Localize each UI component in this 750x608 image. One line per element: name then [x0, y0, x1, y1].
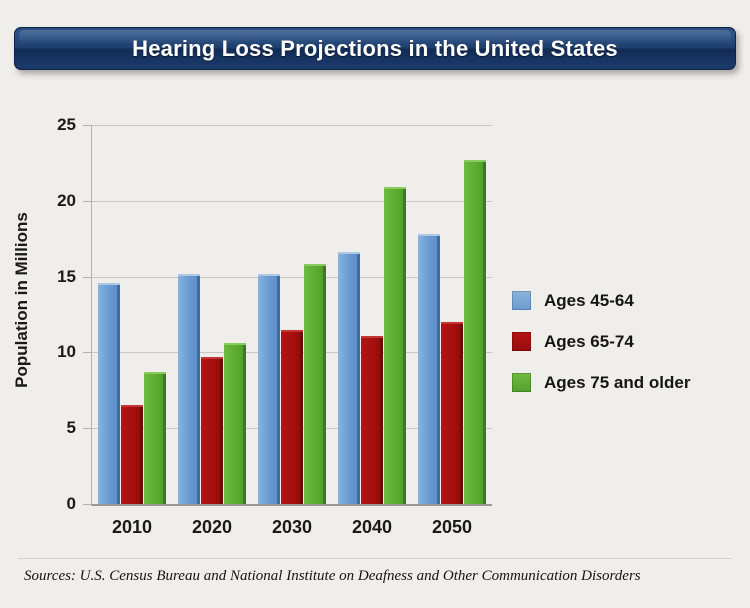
bar-group	[332, 125, 412, 504]
source-note: Sources: U.S. Census Bureau and National…	[24, 568, 734, 585]
bar	[418, 234, 440, 504]
y-axis-tick-label: 10	[57, 342, 76, 362]
bar-face	[304, 264, 323, 504]
bar-face	[338, 252, 357, 504]
bar	[338, 252, 360, 504]
legend-item: Ages 45-64	[512, 280, 742, 321]
chart-canvas: Population in Millions 0510152025 201020…	[0, 82, 750, 552]
bar-cap	[338, 252, 360, 254]
bar-side	[483, 160, 486, 504]
bar-side	[243, 343, 246, 504]
legend-item-label: Ages 65-74	[544, 332, 634, 352]
bar	[201, 357, 223, 504]
y-axis-tick	[83, 352, 92, 353]
bar	[121, 405, 143, 504]
bar-group	[412, 125, 492, 504]
bar-side	[163, 372, 166, 504]
bar-side	[323, 264, 326, 504]
y-axis-tick-label: 15	[57, 267, 76, 287]
bar-cap	[144, 372, 166, 374]
bar-face	[281, 330, 300, 504]
legend-swatch-icon	[512, 373, 531, 392]
bar-face	[384, 187, 403, 504]
y-axis-tick	[83, 201, 92, 202]
bar-side	[197, 274, 200, 504]
bar-face	[361, 336, 380, 504]
bar-cap	[224, 343, 246, 345]
plot-area: 0510152025 20102020203020402050	[92, 125, 492, 504]
bar-cap	[304, 264, 326, 266]
bar-side	[460, 322, 463, 504]
bar	[178, 274, 200, 504]
bar-cap	[464, 160, 486, 162]
legend-item-label: Ages 45-64	[544, 291, 634, 311]
bar-cap	[281, 330, 303, 332]
bar-side	[220, 357, 223, 504]
bar	[144, 372, 166, 504]
bar	[98, 283, 120, 504]
bar-cap	[258, 274, 280, 276]
bar-face	[441, 322, 460, 504]
bar-cap	[441, 322, 463, 324]
bar-cap	[361, 336, 383, 338]
bar	[441, 322, 463, 504]
x-axis-tick-label: 2050	[392, 517, 512, 538]
y-axis-tick-label: 25	[57, 115, 76, 135]
bar-face	[98, 283, 117, 504]
y-axis-tick-label: 20	[57, 191, 76, 211]
bar-side	[403, 187, 406, 504]
y-axis-tick-label: 0	[67, 494, 76, 514]
bar-side	[437, 234, 440, 504]
bar-side	[277, 274, 280, 504]
chart-title-banner: Hearing Loss Projections in the United S…	[14, 27, 736, 70]
bar-face	[418, 234, 437, 504]
footer-divider	[18, 558, 732, 559]
page-title: Hearing Loss Projections in the United S…	[132, 36, 618, 62]
bar-face	[178, 274, 197, 504]
y-axis-tick	[83, 125, 92, 126]
bar-side	[357, 252, 360, 504]
y-axis-title: Population in Millions	[12, 200, 32, 400]
bar-side	[117, 283, 120, 504]
bar	[464, 160, 486, 504]
legend-item-label: Ages 75 and older	[544, 373, 690, 393]
bar	[258, 274, 280, 504]
bar-group	[92, 125, 172, 504]
legend-swatch-icon	[512, 291, 531, 310]
bar-group	[172, 125, 252, 504]
bar-cap	[121, 405, 143, 407]
bar-side	[380, 336, 383, 504]
legend-item: Ages 65-74	[512, 321, 742, 362]
bar-cap	[98, 283, 120, 285]
bar-cap	[178, 274, 200, 276]
bar-group	[252, 125, 332, 504]
bar-cap	[201, 357, 223, 359]
bar-face	[224, 343, 243, 504]
bar-face	[258, 274, 277, 504]
bar-face	[121, 405, 140, 504]
bar	[281, 330, 303, 504]
bar-cap	[384, 187, 406, 189]
bar-face	[464, 160, 483, 504]
bar-side	[300, 330, 303, 504]
x-axis-line	[91, 504, 492, 506]
legend-swatch-icon	[512, 332, 531, 351]
bar-face	[144, 372, 163, 504]
bar-side	[140, 405, 143, 504]
bar	[384, 187, 406, 504]
bar-face	[201, 357, 220, 504]
y-axis-tick	[83, 277, 92, 278]
legend-item: Ages 75 and older	[512, 362, 742, 403]
y-axis-tick-label: 5	[67, 418, 76, 438]
bar	[224, 343, 246, 504]
y-axis-tick	[83, 504, 92, 505]
bar-cap	[418, 234, 440, 236]
chart-legend: Ages 45-64Ages 65-74Ages 75 and older	[512, 280, 742, 403]
y-axis-tick	[83, 428, 92, 429]
bar	[361, 336, 383, 504]
bar	[304, 264, 326, 504]
